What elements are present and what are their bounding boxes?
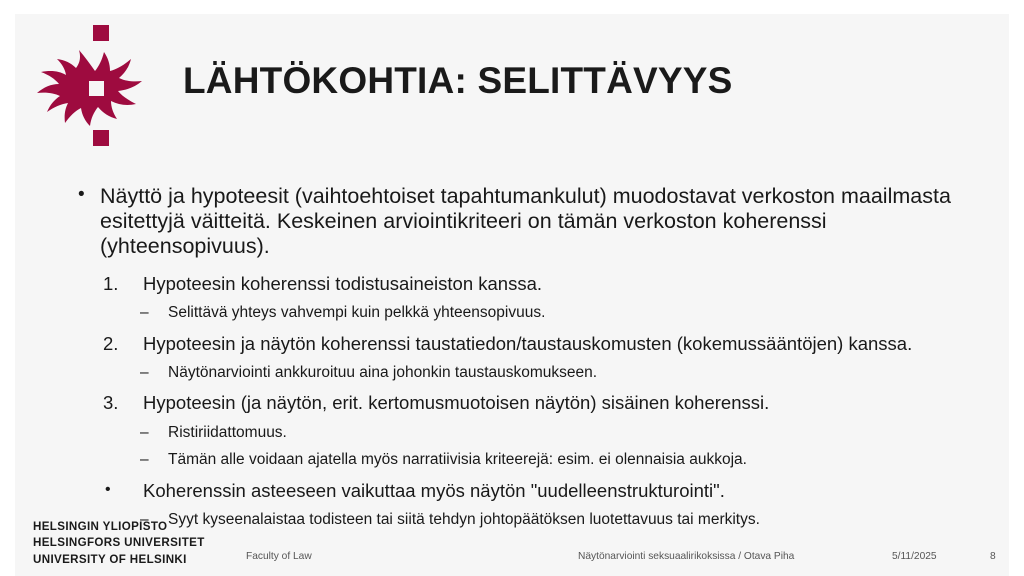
sub-item-3-1: – Ristiriidattomuus. [140,424,988,443]
dash-marker-icon: – [140,364,149,383]
dash-marker-icon: – [140,304,149,323]
numbered-item-3: 3. Hypoteesin (ja näytön, erit. kertomus… [103,392,1003,414]
flame-icon [35,47,157,129]
list-number-1: 1. [103,273,129,295]
sub-item-3-2: – Tämän alle voidaan ajatella myös narra… [140,451,988,470]
sub-item-1-1: – Selittävä yhteys vahvempi kuin pelkkä … [140,304,988,323]
numbered-item-3-text: Hypoteesin (ja näytön, erit. kertomusmuo… [143,392,769,413]
dash-marker-icon: – [140,451,149,470]
dash-marker-icon: – [140,424,149,443]
bullet-item-4-text: Koherenssin asteeseen vaikuttaa myös näy… [143,480,725,501]
spacer [15,502,1009,511]
spacer [15,323,1009,333]
sub-item-3-2-text: Tämän alle voidaan ajatella myös narrati… [168,451,747,468]
numbered-item-1: 1. Hypoteesin koherenssi todistusaineist… [103,273,1003,295]
university-of-helsinki-flame-logo [35,25,157,149]
wordmark-line-fi: HELSINGIN YLIOPISTO [33,519,205,535]
spacer [15,470,1009,480]
slide-footer: Faculty of Law Näytönarviointi seksuaali… [15,551,1009,567]
spacer [15,442,1009,451]
wordmark-line-sv: HELSINGFORS UNIVERSITET [33,535,205,551]
footer-presentation-title: Näytönarviointi seksuaalirikoksissa / Ot… [578,551,794,562]
sub-item-2-1: – Näytönarviointi ankkuroituu aina johon… [140,364,988,383]
footer-page-number: 8 [990,551,996,562]
list-number-3: 3. [103,392,129,414]
bullet-level1-text: Näyttö ja hypoteesit (vaihtoehtoiset tap… [100,184,951,258]
logo-square-bottom [93,130,109,146]
sub-item-3-1-text: Ristiriidattomuus. [168,424,287,441]
sub-item-4-1: – Syyt kyseenalaistaa todisteen tai siit… [140,511,988,530]
sub-item-2-1-text: Näytönarviointi ankkuroituu aina johonki… [168,364,597,381]
logo-square-top [93,25,109,41]
sub-item-1-1-text: Selittävä yhteys vahvempi kuin pelkkä yh… [168,304,545,321]
spacer [15,295,1009,304]
spacer [15,355,1009,364]
spacer [15,382,1009,392]
spacer [15,259,1009,273]
slide-body: • Näyttö ja hypoteesit (vaihtoehtoiset t… [15,184,1009,530]
slide-title: LÄHTÖKOHTIA: SELITTÄVYYS [183,62,983,101]
list-number-2: 2. [103,333,129,355]
presentation-slide: LÄHTÖKOHTIA: SELITTÄVYYS • Näyttö ja hyp… [15,14,1009,576]
footer-faculty: Faculty of Law [246,551,312,562]
bullet-level1: • Näyttö ja hypoteesit (vaihtoehtoiset t… [78,184,955,259]
spacer [15,415,1009,424]
footer-date: 5/11/2025 [892,551,937,562]
numbered-item-1-text: Hypoteesin koherenssi todistusaineiston … [143,273,542,294]
numbered-item-2: 2. Hypoteesin ja näytön koherenssi taust… [103,333,1003,355]
sub-item-4-1-text: Syyt kyseenalaistaa todisteen tai siitä … [168,511,760,528]
bullet-marker-icon: • [105,480,131,499]
numbered-item-2-text: Hypoteesin ja näytön koherenssi taustati… [143,333,912,354]
bullet-marker-icon: • [78,184,85,207]
bullet-item-4: • Koherenssin asteeseen vaikuttaa myös n… [103,480,1003,502]
